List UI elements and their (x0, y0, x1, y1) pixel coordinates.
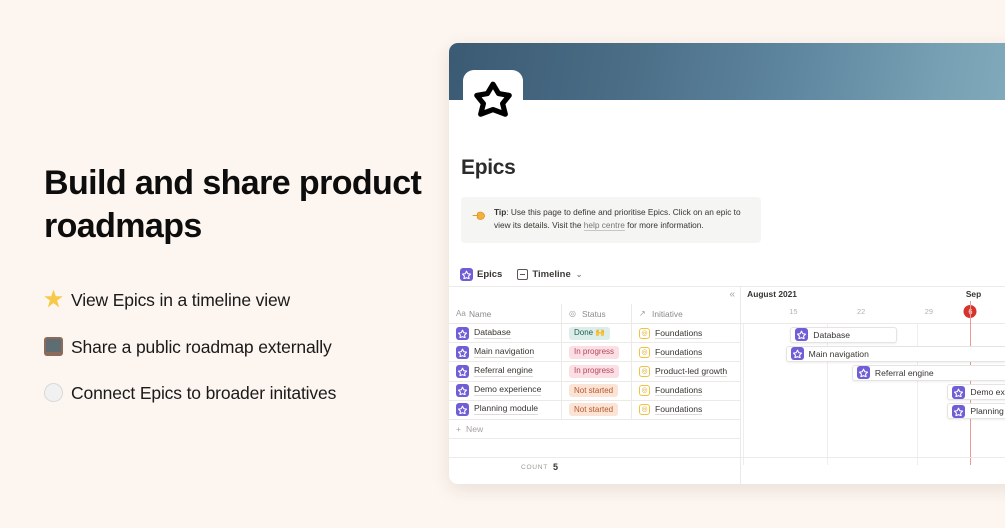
workspace-logo (463, 70, 523, 130)
table-row[interactable]: Planning module Not started ◎ Foundation… (449, 401, 740, 420)
text-icon: Aa (456, 309, 465, 318)
cell-name[interactable]: Planning module (449, 401, 561, 419)
status-label: Not started (574, 405, 613, 415)
star-icon (456, 346, 469, 359)
table-row[interactable]: Main navigation In progress ◎ Foundation… (449, 343, 740, 362)
star-icon (952, 405, 965, 418)
count-value: 5 (553, 462, 558, 472)
column-header-status[interactable]: ◎ Status (561, 304, 631, 323)
gantt-row: Planning module (741, 402, 1005, 421)
star-icon (791, 347, 804, 360)
column-header-label: Status (582, 309, 606, 319)
gantt-bar[interactable]: Referral engine (852, 365, 1005, 381)
panel-body: Epics Tip: Use this page to define and p… (449, 100, 1005, 484)
cell-name[interactable]: Database (449, 324, 561, 342)
initiative-label: Foundations (655, 404, 702, 415)
gantt-row: Demo experience (741, 383, 1005, 402)
initiative-label: Product-led growth (655, 366, 727, 377)
timeline-view: « Aa Name ◎ Status ↗ Initiative (449, 286, 1005, 484)
cell-status[interactable]: In progress (561, 343, 631, 361)
count-bar: COUNT 5 (449, 457, 740, 476)
cell-initiative[interactable]: ◎ Foundations (631, 401, 740, 419)
star-icon (460, 268, 473, 281)
cell-status[interactable]: Not started (561, 382, 631, 400)
initiative-icon: ◎ (639, 347, 650, 358)
status-badge: In progress (569, 365, 619, 378)
gantt-bar[interactable]: Database (790, 327, 896, 343)
gantt-bar[interactable]: Demo experience (947, 384, 1005, 400)
view-bar: Epics Timeline ⌄ (457, 266, 585, 283)
status-label: In progress (574, 366, 614, 376)
count-label: COUNT (521, 464, 548, 471)
bullet-text: Connect Epics to broader initatives (71, 383, 336, 405)
database-title-button[interactable]: Epics (457, 266, 505, 283)
star-icon (857, 366, 870, 379)
gantt-bars: Database Main navigation Referral engine (741, 325, 1005, 421)
star-icon (952, 386, 965, 399)
row-name-label: Planning module (474, 404, 538, 415)
relation-icon: ↗ (639, 309, 648, 318)
column-header-label: Initiative (652, 309, 683, 319)
page-headline: Build and share product roadmaps (44, 162, 434, 248)
cell-name[interactable]: Demo experience (449, 382, 561, 400)
add-new-row-label: New (466, 424, 483, 434)
initiative-label: Foundations (655, 347, 702, 358)
row-name-label: Main navigation (474, 347, 534, 358)
table-body: Database Done🙌 ◎ Foundations (449, 324, 740, 420)
column-header-label: Name (469, 309, 491, 319)
star-icon (795, 328, 808, 341)
timeline-table-panel: « Aa Name ◎ Status ↗ Initiative (449, 287, 741, 484)
gantt-bar-label: Database (813, 330, 850, 340)
gantt-tick-header: 15 22 29 6 12 (741, 304, 1005, 324)
view-tab-label: Timeline (532, 269, 570, 280)
status-emoji: 🙌 (595, 328, 605, 338)
tip-lead: Tip (494, 207, 506, 217)
list-item: Share a public roadmap externally (44, 337, 434, 359)
cell-status[interactable]: Not started (561, 401, 631, 419)
gantt-panel: August 2021 Sep 15 22 29 6 12 (741, 287, 1005, 484)
gantt-bar-label: Demo experience (970, 387, 1005, 397)
initiative-icon: ◎ (639, 366, 650, 377)
thought-emoji (44, 383, 71, 404)
bullet-text: Share a public roadmap externally (71, 337, 332, 359)
initiative-icon: ◎ (639, 404, 650, 415)
table-row[interactable]: Database Done🙌 ◎ Foundations (449, 324, 740, 343)
row-name-label: Database (474, 328, 511, 339)
status-badge: Done🙌 (569, 327, 610, 340)
column-header-initiative[interactable]: ↗ Initiative (631, 304, 740, 323)
cell-initiative[interactable]: ◎ Product-led growth (631, 362, 740, 380)
gantt-month-header: August 2021 Sep (741, 287, 1005, 304)
select-icon: ◎ (569, 309, 578, 318)
initiative-icon: ◎ (639, 385, 650, 396)
star-icon (456, 365, 469, 378)
marketing-pane: Build and share product roadmaps View Ep… (44, 162, 434, 430)
gantt-tick: 29 (925, 307, 933, 316)
tip-text: Tip: Use this page to define and priorit… (494, 206, 750, 233)
gantt-row: Database (741, 325, 1005, 344)
column-header-name[interactable]: Aa Name (449, 304, 561, 323)
gantt-row: Referral engine (741, 363, 1005, 382)
pointing-hand-icon (472, 208, 486, 233)
help-centre-link[interactable]: help centre (584, 220, 625, 231)
view-tab-timeline[interactable]: Timeline ⌄ (514, 267, 585, 282)
star-icon (473, 80, 513, 120)
chevron-down-icon[interactable]: ⌄ (576, 270, 583, 279)
initiative-icon: ◎ (639, 328, 650, 339)
cover-image (449, 43, 1005, 100)
status-badge: Not started (569, 384, 618, 397)
row-name-label: Referral engine (474, 366, 533, 377)
star-icon (456, 327, 469, 340)
cell-status[interactable]: Done🙌 (561, 324, 631, 342)
cell-initiative[interactable]: ◎ Foundations (631, 343, 740, 361)
gantt-bar-label: Main navigation (809, 349, 869, 359)
database-title-label: Epics (477, 269, 502, 280)
star-emoji (44, 290, 71, 311)
gantt-bar[interactable]: Main navigation (786, 346, 1005, 362)
feature-bullet-list: View Epics in a timeline view Share a pu… (44, 290, 434, 406)
gantt-month-label: August 2021 (747, 289, 797, 299)
app-window: Epics Tip: Use this page to define and p… (449, 43, 1005, 484)
gantt-bar-label: Referral engine (875, 368, 934, 378)
page-title: Epics (461, 156, 516, 180)
gantt-bar[interactable]: Planning module (947, 403, 1005, 419)
cell-name[interactable]: Referral engine (449, 362, 561, 380)
status-badge: Not started (569, 403, 618, 416)
add-new-row-button[interactable]: + New (449, 420, 740, 439)
table-header-row: Aa Name ◎ Status ↗ Initiative (449, 304, 740, 324)
tip-body-after: for more information. (625, 220, 704, 230)
table-row[interactable]: Demo experience Not started ◎ Foundation… (449, 382, 740, 401)
status-label: Done (574, 328, 593, 338)
bullet-text: View Epics in a timeline view (71, 290, 290, 312)
plus-icon: + (456, 424, 461, 434)
status-label: Not started (574, 386, 613, 396)
tv-emoji (44, 337, 71, 358)
gantt-row: Main navigation (741, 344, 1005, 363)
gantt-tick: 22 (857, 307, 865, 316)
gantt-month-label: Sep (966, 289, 981, 299)
initiative-label: Foundations (655, 328, 702, 339)
star-icon (456, 384, 469, 397)
list-item: Connect Epics to broader initatives (44, 383, 434, 405)
star-icon (456, 403, 469, 416)
status-label: In progress (574, 347, 614, 357)
cell-status[interactable]: In progress (561, 362, 631, 380)
initiative-label: Foundations (655, 385, 702, 396)
list-item: View Epics in a timeline view (44, 290, 434, 312)
cell-initiative[interactable]: ◎ Foundations (631, 324, 740, 342)
row-name-label: Demo experience (474, 385, 541, 396)
cell-initiative[interactable]: ◎ Foundations (631, 382, 740, 400)
collapse-panel-button[interactable]: « (729, 289, 734, 300)
timeline-view-icon (517, 269, 528, 280)
gantt-tick: 15 (789, 307, 797, 316)
tip-callout: Tip: Use this page to define and priorit… (461, 197, 761, 243)
table-row[interactable]: Referral engine In progress ◎ Product-le… (449, 362, 740, 381)
status-badge: In progress (569, 346, 619, 359)
gantt-bar-label: Planning module (970, 406, 1005, 416)
cell-name[interactable]: Main navigation (449, 343, 561, 361)
gantt-footer (741, 457, 1005, 476)
